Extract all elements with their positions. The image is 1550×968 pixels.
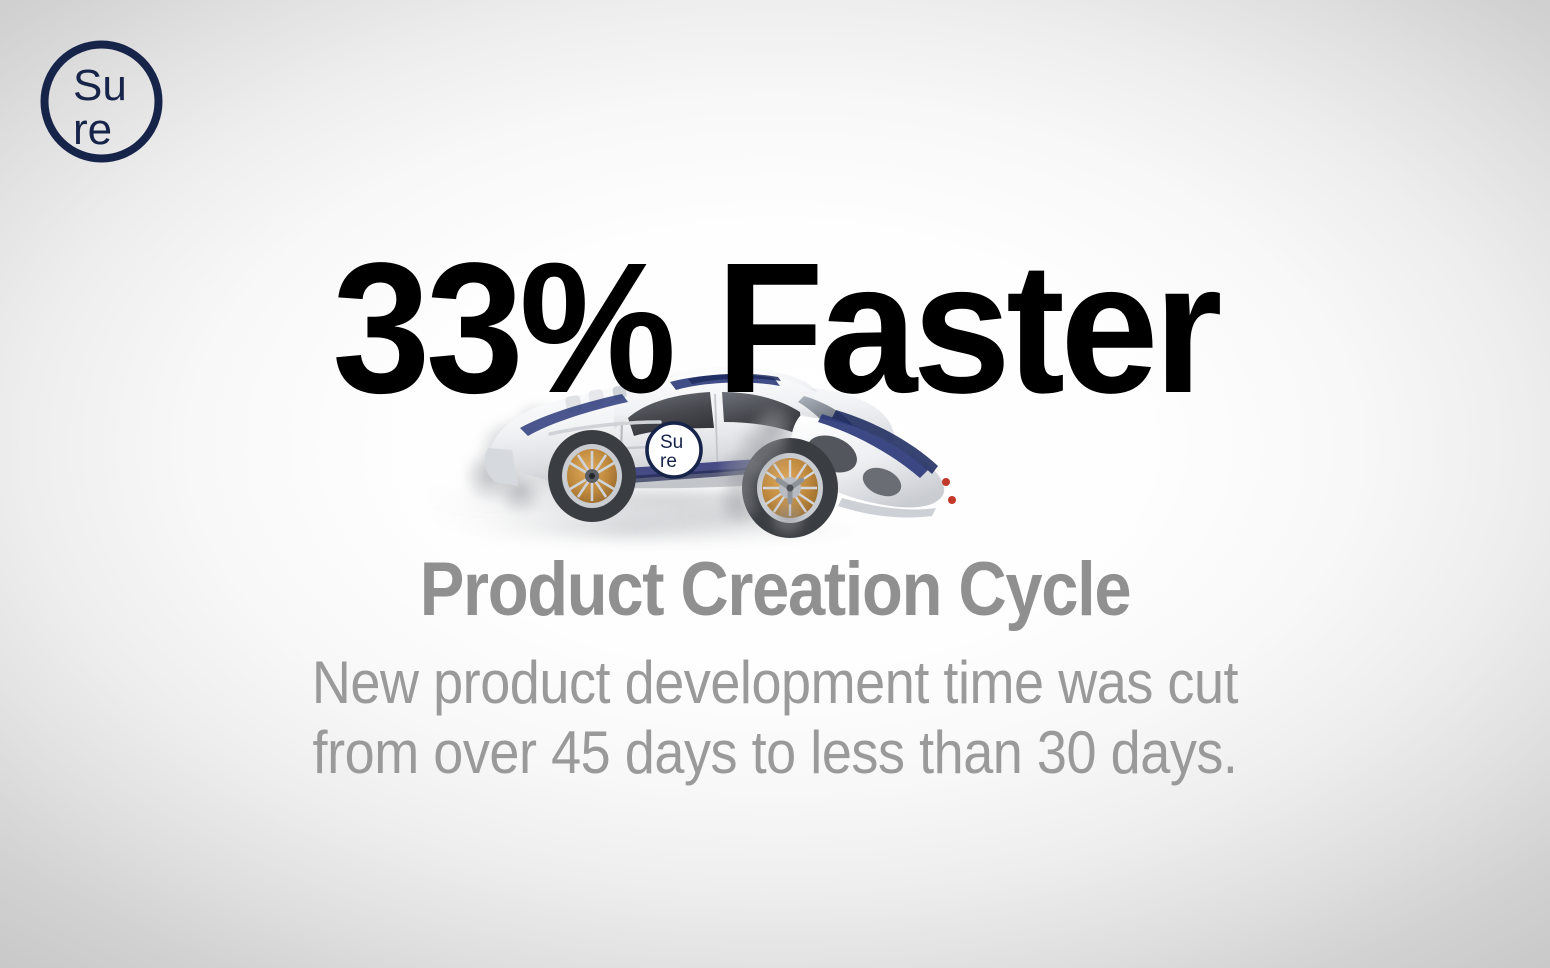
infographic-canvas: Su re [0, 0, 1550, 968]
marker-light-upper [942, 478, 950, 486]
body-copy-line-1: New product development time was cut [78, 648, 1473, 718]
car-tail-panel [485, 448, 518, 486]
body-copy: New product development time was cut fro… [0, 648, 1550, 788]
front-splitter [838, 498, 936, 518]
side-rocker-stripe [566, 458, 776, 483]
rear-wheel [548, 430, 636, 522]
subheading: Product Creation Cycle [93, 552, 1457, 628]
front-wheel [742, 438, 838, 538]
headlight-pod-outer [859, 462, 906, 501]
sure-circle-logo: Su re [38, 38, 165, 165]
headline-stat: 33% Faster [39, 243, 1512, 416]
door-handle [628, 446, 670, 448]
body-copy-line-2: from over 45 days to less than 30 days. [78, 718, 1473, 788]
door-badge-line2: re [660, 451, 677, 472]
tire-smoke-trail [425, 489, 880, 540]
door-badge-line1: Su [660, 432, 683, 453]
rear-wheel-spokes [570, 451, 614, 501]
knockoff-hub [778, 477, 802, 502]
headlight-pod-inner [802, 428, 863, 479]
marker-light-lower [948, 496, 956, 504]
front-wheel-spokes [763, 460, 817, 516]
logo-text-line1: Su [73, 61, 127, 110]
logo-text-line2: re [73, 105, 112, 154]
side-rocker-stripe-dark [568, 466, 777, 487]
